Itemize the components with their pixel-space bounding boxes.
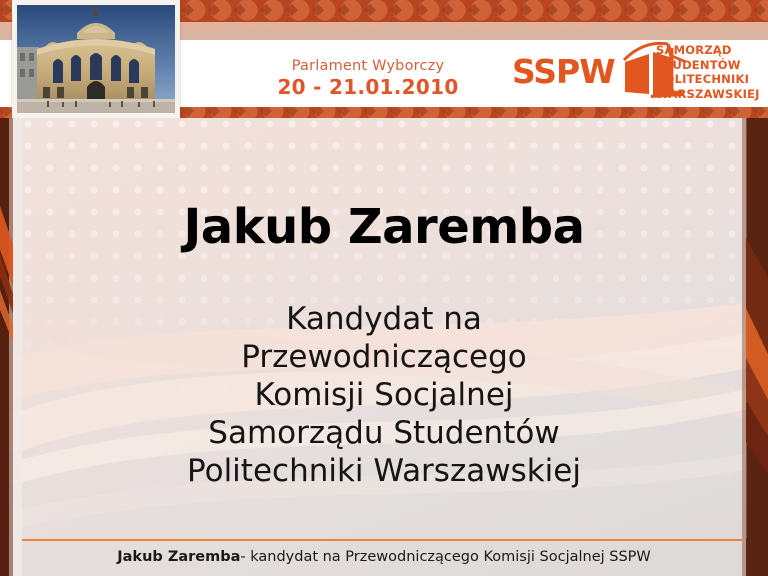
slide-header: Parlament Wyborczy 20 - 21.01.2010 SSPW <box>0 0 768 118</box>
subtitle-line: Samorządu Studentów <box>40 414 728 452</box>
subtitle-line: Przewodniczącego <box>40 338 728 376</box>
sspw-wordmark: SSPW <box>512 52 615 91</box>
sspw-logo-line-3: POLITECHNIKI <box>656 72 760 87</box>
page-title: Jakub Zaremba <box>40 200 728 254</box>
sspw-logo-line-2: STUDENTÓW <box>656 58 760 73</box>
event-date: 20 - 21.01.2010 <box>268 75 468 99</box>
sspw-logo-text: SAMORZĄD STUDENTÓW POLITECHNIKI WARSZAWS… <box>656 43 760 101</box>
footer-description: - kandydat na Przewodniczącego Komisji S… <box>240 549 650 565</box>
footer-text: Jakub Zaremba- kandydat na Przewodnicząc… <box>0 549 768 565</box>
event-name: Parlament Wyborczy <box>268 58 468 74</box>
sspw-logo-line-1: SAMORZĄD <box>656 43 760 58</box>
sspw-logo: SSPW SAMORZĄD STUDENTÓW POLITECH <box>512 42 752 104</box>
subtitle-line: Kandydat na <box>40 300 728 338</box>
slide-subtitle: Kandydat na Przewodniczącego Komisji Soc… <box>40 300 728 490</box>
university-building-photo <box>12 0 180 118</box>
subtitle-line: Politechniki Warszawskiej <box>40 452 728 490</box>
sspw-logo-line-4: WARSZAWSKIEJ <box>656 87 760 102</box>
footer-candidate-name: Jakub Zaremba <box>117 549 240 565</box>
subtitle-line: Komisji Socjalnej <box>40 376 728 414</box>
footer-divider <box>22 539 742 541</box>
presentation-slide: Parlament Wyborczy 20 - 21.01.2010 SSPW <box>0 0 768 576</box>
slide-content: Jakub Zaremba Kandydat na Przewodniczące… <box>40 118 728 533</box>
left-edge-decoration <box>0 118 22 576</box>
